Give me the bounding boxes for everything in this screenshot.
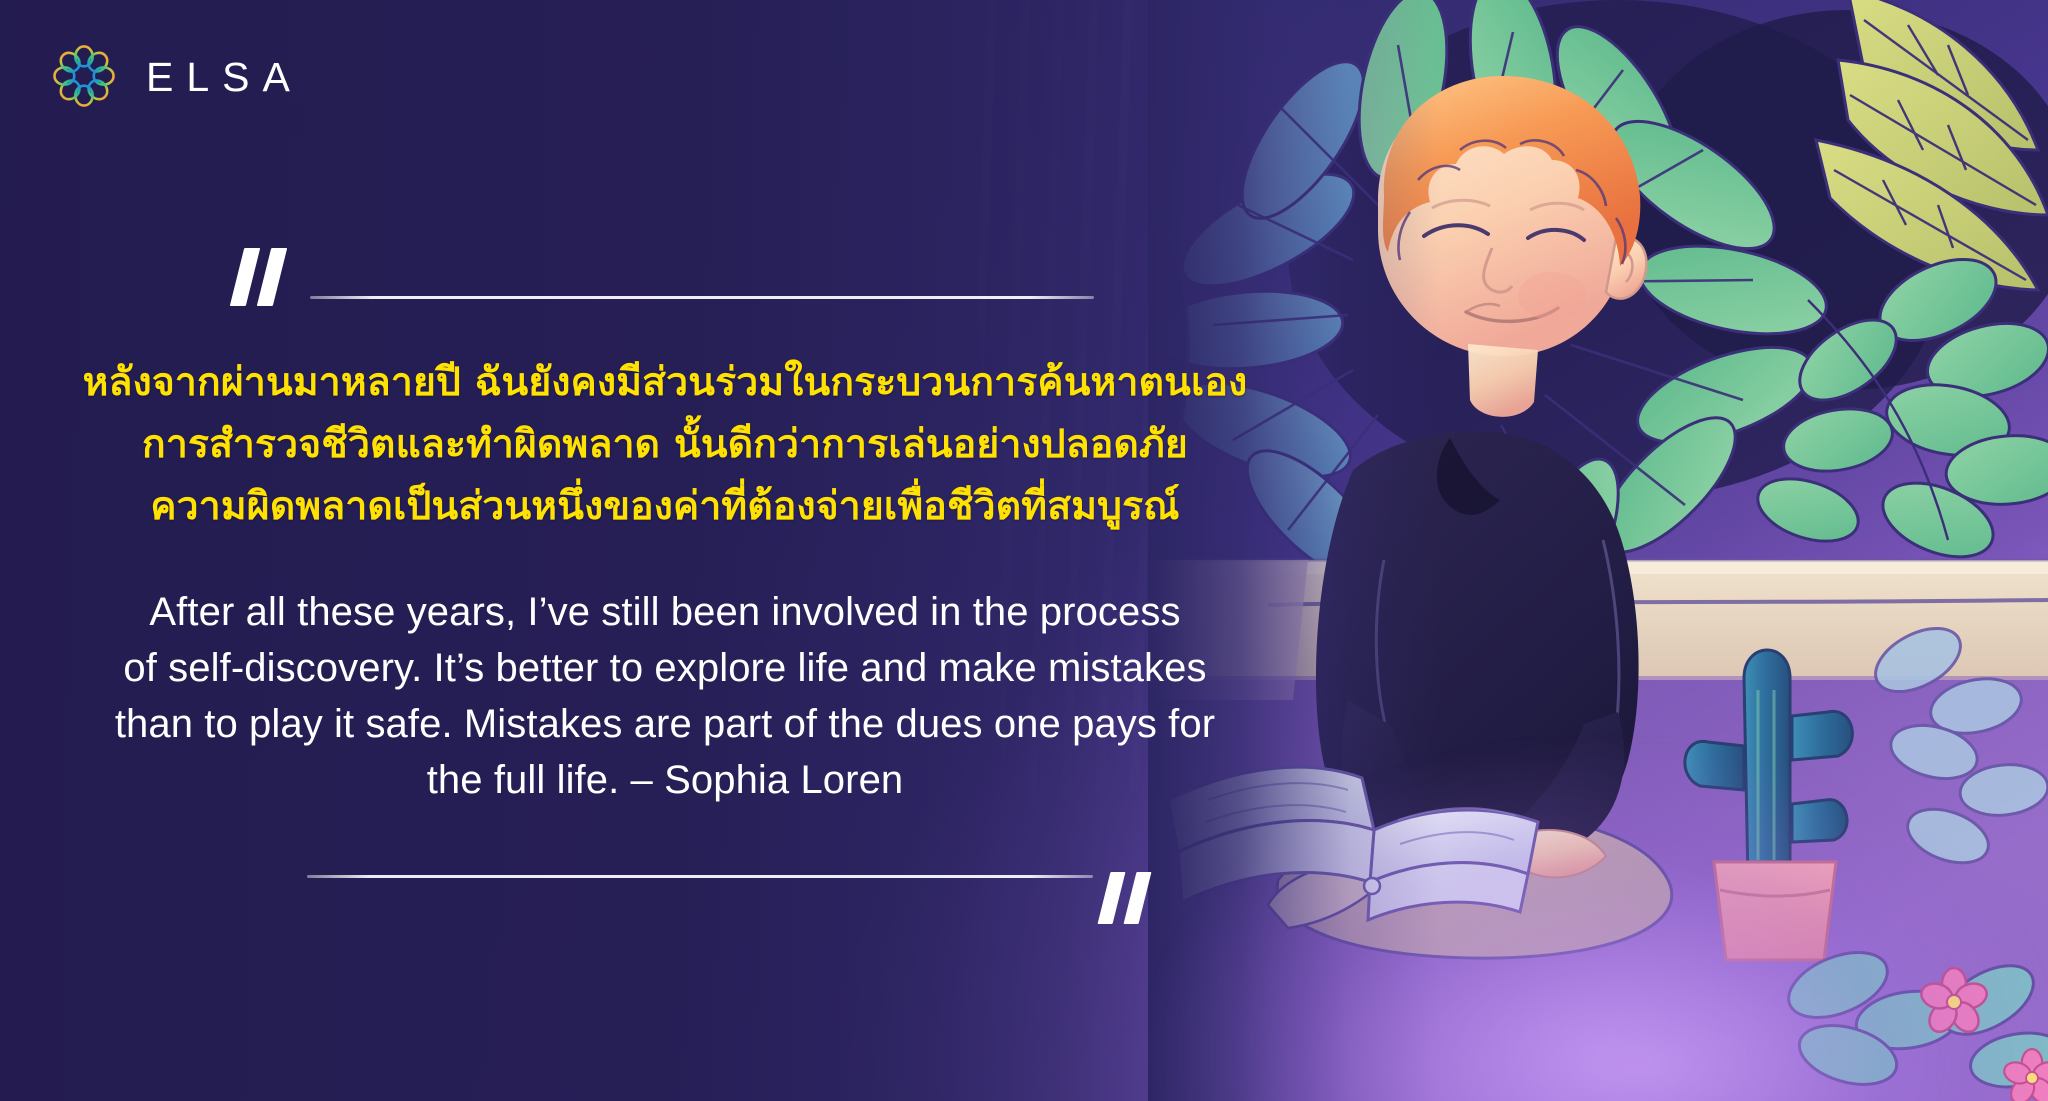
- english-quote-text: After all these years, I’ve still been i…: [0, 584, 1330, 808]
- double-quote-open-icon: [237, 248, 280, 310]
- thai-line-3: ความผิดพลาดเป็นส่วนหนึ่งของค่าที่ต้องจ่า…: [0, 476, 1330, 538]
- quote-card: ELSA หลังจากผ่านมาหลายปี ฉันยังคงมีส่วนร…: [0, 0, 2048, 1101]
- double-quote-close-icon: [1104, 872, 1145, 928]
- english-line-4: the full life. – Sophia Loren: [0, 752, 1330, 808]
- english-line-2: of self-discovery. It’s better to explor…: [0, 640, 1330, 696]
- english-line-1: After all these years, I’ve still been i…: [0, 584, 1330, 640]
- divider-top: [310, 296, 1094, 299]
- thai-quote-text: หลังจากผ่านมาหลายปี ฉันยังคงมีส่วนร่วมใน…: [0, 352, 1330, 538]
- quote-block: หลังจากผ่านมาหลายปี ฉันยังคงมีส่วนร่วมใน…: [0, 0, 1330, 1101]
- english-line-3: than to play it safe. Mistakes are part …: [0, 696, 1330, 752]
- thai-line-1: หลังจากผ่านมาหลายปี ฉันยังคงมีส่วนร่วมใน…: [0, 352, 1330, 414]
- divider-bottom: [307, 875, 1093, 878]
- thai-line-2: การสำรวจชีวิตและทำผิดพลาด นั้นดีกว่าการเ…: [0, 414, 1330, 476]
